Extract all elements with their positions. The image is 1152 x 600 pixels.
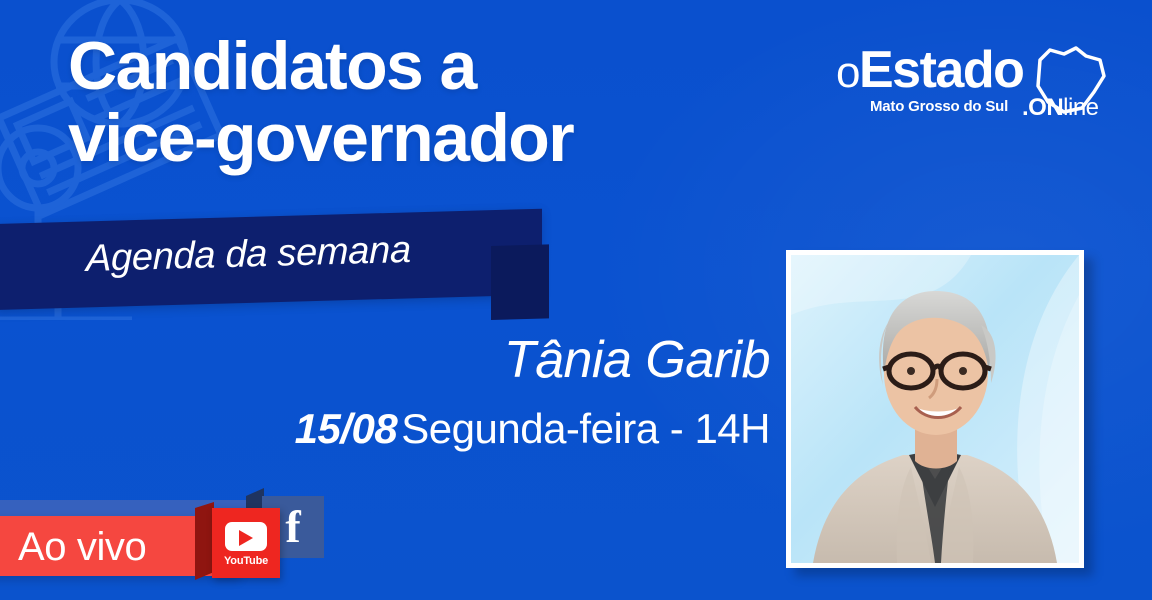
youtube-label: YouTube bbox=[212, 555, 280, 567]
brand-domain-bold: .ON bbox=[1022, 94, 1063, 121]
ribbon-label: Agenda da semana bbox=[86, 225, 546, 298]
guest-name: Tânia Garib bbox=[0, 330, 770, 390]
event-weekday-time: Segunda-feira - 14H bbox=[401, 405, 770, 452]
event-date: 15/08 bbox=[295, 405, 398, 452]
page-title: Candidatos a vice-governador bbox=[68, 30, 828, 174]
youtube-tile[interactable]: YouTube bbox=[212, 508, 280, 578]
guest-photo bbox=[791, 255, 1079, 563]
guest-photo-frame bbox=[786, 250, 1084, 568]
play-triangle-icon bbox=[239, 530, 253, 546]
brand-name: Estado bbox=[859, 41, 1023, 99]
brand-domain: .ONline bbox=[1022, 94, 1099, 122]
promo-banner: Candidatos a vice-governador Agenda da s… bbox=[0, 0, 1152, 600]
brand-domain-rest: line bbox=[1063, 94, 1098, 121]
guest-schedule: 15/08Segunda-feira - 14H bbox=[0, 405, 770, 453]
brand-logo: oEstado Mato Grosso do Sul .ONline bbox=[836, 44, 1086, 144]
brand-subtitle: Mato Grosso do Sul bbox=[870, 98, 1008, 115]
brand-prefix: o bbox=[836, 48, 859, 97]
brand-wordmark: oEstado bbox=[836, 44, 1023, 96]
photo-background-swoosh bbox=[791, 255, 1079, 563]
